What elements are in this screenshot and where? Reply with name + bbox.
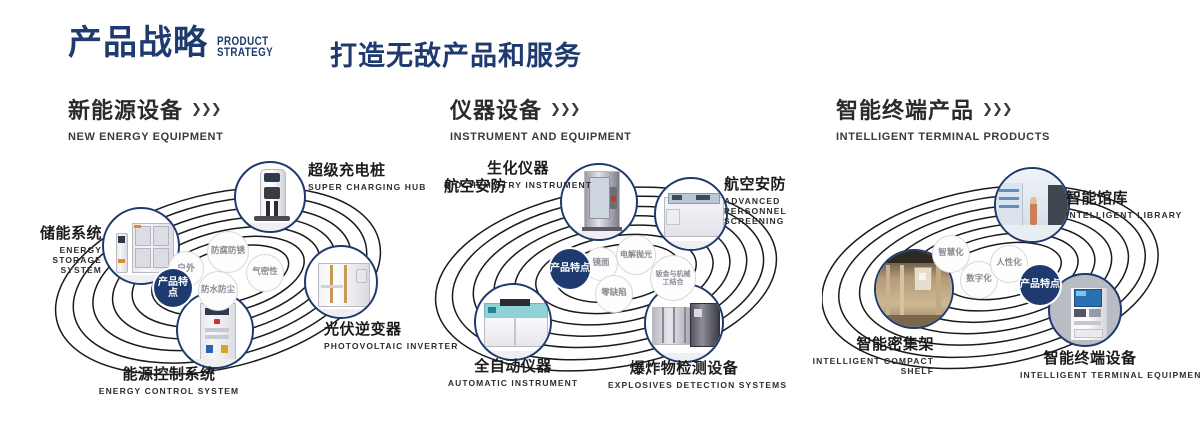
- node-label-cn: 航空安防: [396, 175, 506, 196]
- section-title-intelligent: 智能终端产品❯❯❯ INTELLIGENT TERMINAL PRODUCTS: [836, 93, 1050, 143]
- node-label-cn: 智能馆库: [1066, 187, 1182, 208]
- feature-bubble-airtight: 气密性: [246, 254, 284, 292]
- node-label-en: ENERGY STORAGE SYSTEM: [12, 245, 102, 275]
- node-label-en: INTELLIGENT LIBRARY: [1066, 210, 1182, 220]
- feature-bubble-waterproof: 防水防尘: [198, 271, 238, 311]
- node-automatic-instrument[interactable]: [474, 283, 552, 361]
- node-label-en: INTELLIGENT COMPACT SHELF: [812, 356, 934, 376]
- node-label-en: AUTOMATIC INSTRUMENT: [438, 378, 588, 388]
- node-label-en: ENERGY CONTROL SYSTEM: [84, 386, 254, 396]
- feature-bubble-anticorrosion: 防腐防锈: [207, 231, 249, 273]
- node-advanced-personnel-screening[interactable]: [654, 177, 728, 251]
- node-label-en: INTELLIGENT TERMINAL EQUIPMENT: [1020, 370, 1160, 380]
- node-super-charging-hub[interactable]: [234, 161, 306, 233]
- node-label-energy-control-system: 能源控制系统 ENERGY CONTROL SYSTEM: [84, 363, 254, 396]
- diagram-intelligent-terminal: 智能馆库 INTELLIGENT LIBRARY 智能终端设备 INTELLIG…: [822, 155, 1188, 395]
- section-title-en: INTELLIGENT TERMINAL PRODUCTS: [836, 131, 1050, 143]
- center-badge-product-features: 产品特点: [1020, 265, 1060, 305]
- node-label-advanced-personnel-screening: 航空安防 ADVANCED PERSONNEL SCREENING: [724, 173, 816, 226]
- automatic-instrument-icon: [476, 285, 550, 359]
- section-title-instrument: 仪器设备❯❯❯ INSTRUMENT AND EQUIPMENT: [450, 93, 631, 143]
- section-title-en: NEW ENERGY EQUIPMENT: [68, 131, 223, 143]
- page-title: 产品战略 PRODUCT STRATEGY: [68, 26, 285, 60]
- node-label-cn: 智能密集架: [812, 333, 934, 354]
- node-label-explosives-detection-systems: 爆炸物检测设备 EXPLOSIVES DETECTION SYSTEMS: [608, 357, 760, 390]
- node-intelligent-library[interactable]: [994, 167, 1070, 243]
- feature-bubble-zero-defect: 零缺陷: [595, 275, 633, 313]
- page-title-en: PRODUCT STRATEGY: [217, 36, 273, 58]
- node-label-cn: 航空安防: [724, 173, 816, 194]
- node-label-energy-storage-system: 储能系统 ENERGY STORAGE SYSTEM: [12, 222, 102, 275]
- node-label-intelligent-terminal-equipment: 智能终端设备 INTELLIGENT TERMINAL EQUIPMENT: [1020, 347, 1160, 380]
- center-badge-product-features: 产品特点: [550, 249, 590, 289]
- node-label-en: ADVANCED PERSONNEL SCREENING: [724, 196, 816, 226]
- node-label-cn: 全自动仪器: [438, 355, 588, 376]
- self-service-kiosk-icon: [1050, 275, 1120, 345]
- section-title-cn: 新能源设备: [68, 93, 183, 125]
- inverter-cabinet-icon: [306, 247, 376, 317]
- node-label-intelligent-library: 智能馆库 INTELLIGENT LIBRARY: [1066, 187, 1182, 220]
- product-strategy-infographic: 产品战略 PRODUCT STRATEGY 打造无敌产品和服务 新能源设备❯❯❯…: [0, 0, 1200, 422]
- feature-bubble-electropolishing: 电解抛光: [616, 235, 656, 275]
- screening-machine-icon: [656, 179, 726, 249]
- section-title-en: INSTRUMENT AND EQUIPMENT: [450, 131, 631, 143]
- section-title-cn: 仪器设备: [450, 93, 542, 125]
- node-label-cn: 储能系统: [12, 222, 102, 243]
- chevron-right-icon: ❯❯❯: [550, 101, 580, 117]
- diagram-new-energy: 储能系统 ENERGY STORAGE SYSTEM 超级充电桩 SUPER C…: [50, 155, 410, 395]
- section-title-cn: 智能终端产品: [836, 93, 974, 125]
- diagram-instrument: 生化仪器 BIOCHEMISTRY INSTRUMENT 航空安防 航空安防 A…: [432, 155, 804, 395]
- center-badge-product-features: 产品特点: [154, 269, 192, 307]
- section-title-new-energy: 新能源设备❯❯❯ NEW ENERGY EQUIPMENT: [68, 93, 223, 143]
- page-title-cn: 产品战略: [68, 26, 208, 60]
- page-title-en-line2: STRATEGY: [217, 47, 273, 58]
- node-label-intelligent-compact-shelf: 智能密集架 INTELLIGENT COMPACT SHELF: [812, 333, 934, 376]
- node-label-cn: 智能终端设备: [1020, 347, 1160, 368]
- library-room-icon: [996, 169, 1068, 241]
- feature-bubble-sheetmetal: 钣金与机械工结合: [650, 255, 696, 301]
- node-label-aviation-security-extra: 航空安防: [396, 175, 506, 196]
- node-photovoltaic-inverter[interactable]: [304, 245, 378, 319]
- node-label-en: EXPLOSIVES DETECTION SYSTEMS: [608, 380, 760, 390]
- page-subtitle: 打造无敌产品和服务: [330, 34, 582, 73]
- node-label-cn: 能源控制系统: [84, 363, 254, 384]
- node-label-cn: 爆炸物检测设备: [608, 357, 760, 378]
- charging-pile-icon: [236, 163, 304, 231]
- chevron-right-icon: ❯❯❯: [982, 101, 1012, 117]
- chevron-right-icon: ❯❯❯: [191, 101, 221, 117]
- node-label-automatic-instrument: 全自动仪器 AUTOMATIC INSTRUMENT: [438, 355, 588, 388]
